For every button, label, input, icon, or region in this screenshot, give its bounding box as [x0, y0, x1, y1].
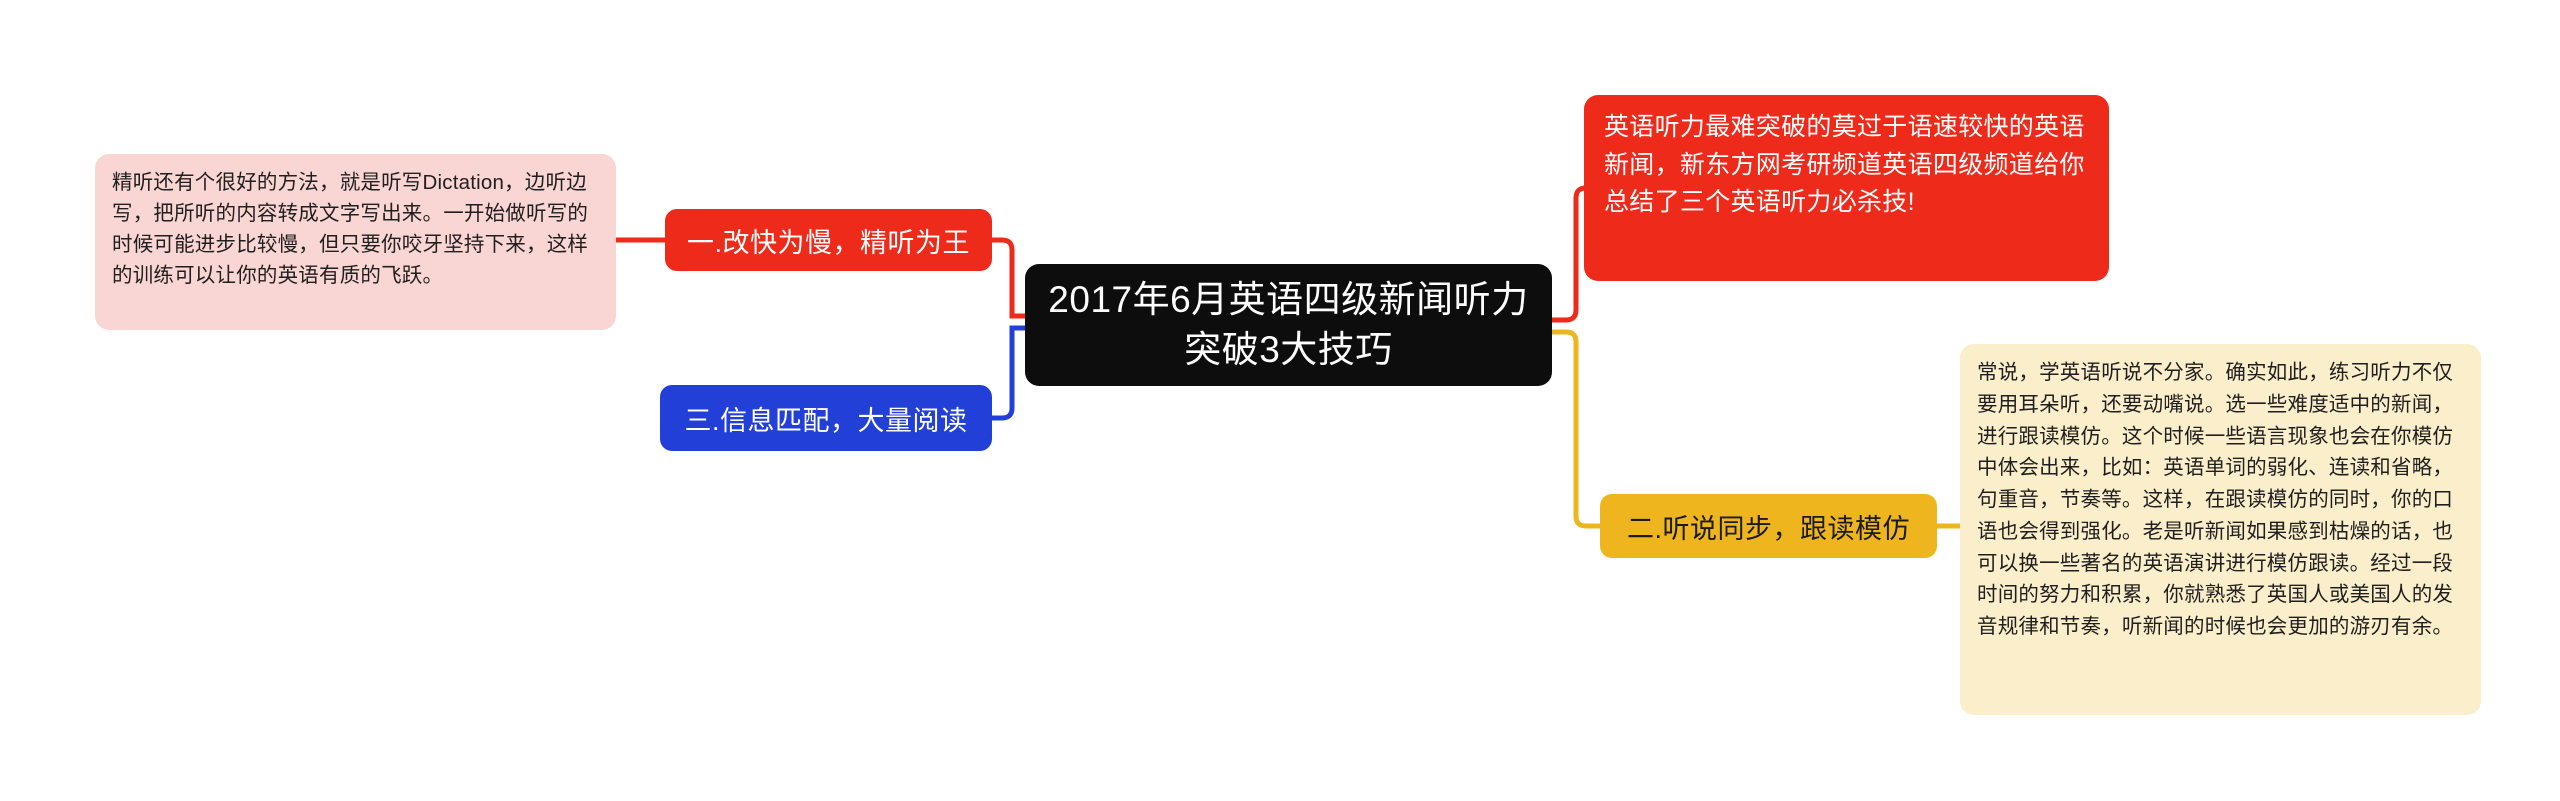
note-left-text: 精听还有个很好的方法，就是听写Dictation，边听边写，把所听的内容转成文字…: [112, 171, 588, 287]
note-box-shadowing[interactable]: 常说，学英语听说不分家。确实如此，练习听力不仅要用耳朵听，还要动嘴说。选一些难度…: [1960, 344, 2481, 715]
connector-right-red: [1552, 188, 1586, 320]
center-topic-title: 2017年6月英语四级新闻听力突破3大技巧: [1043, 275, 1534, 375]
note-box-dictation[interactable]: 精听还有个很好的方法，就是听写Dictation，边听边写，把所听的内容转成文字…: [95, 154, 616, 330]
mindmap-canvas: 精听还有个很好的方法，就是听写Dictation，边听边写，把所听的内容转成文字…: [0, 0, 2560, 801]
note-right-text: 常说，学英语听说不分家。确实如此，练习听力不仅要用耳朵听，还要动嘴说。选一些难度…: [1977, 361, 2453, 638]
branch-node-two[interactable]: 二.听说同步，跟读模仿: [1600, 494, 1937, 558]
note-box-intro[interactable]: 英语听力最难突破的莫过于语速较快的英语新闻，新东方网考研频道英语四级频道给你总结…: [1584, 95, 2109, 281]
branch-node-two-label: 二.听说同步，跟读模仿: [1627, 507, 1910, 546]
branch-node-three-label: 三.信息匹配，大量阅读: [684, 399, 967, 438]
branch-node-three[interactable]: 三.信息匹配，大量阅读: [660, 385, 992, 451]
connector-right-yellow: [1552, 332, 1600, 526]
center-topic-node[interactable]: 2017年6月英语四级新闻听力突破3大技巧: [1025, 264, 1552, 386]
branch-node-one-label: 一.改快为慢，精听为王: [687, 221, 970, 260]
branch-node-one[interactable]: 一.改快为慢，精听为王: [665, 209, 992, 271]
connector-left-blue: [992, 328, 1025, 418]
connector-left-red: [992, 240, 1025, 316]
note-intro-text: 英语听力最难突破的莫过于语速较快的英语新闻，新东方网考研频道英语四级频道给你总结…: [1604, 113, 2085, 216]
